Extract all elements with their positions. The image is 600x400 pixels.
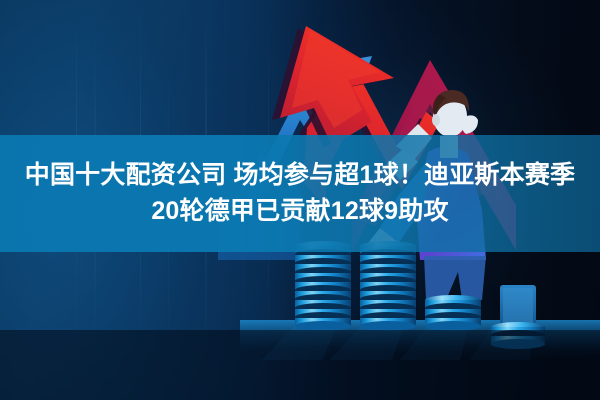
headline-line-2: 20轮德甲已贡献12球9助攻	[151, 194, 448, 230]
coin-stack-2	[360, 241, 416, 331]
coin-stack-3	[425, 295, 481, 331]
bottom-shadow	[0, 330, 600, 400]
coin-stack-1	[295, 241, 351, 331]
banner-image: 中国十大配资公司 场均参与超1球！迪亚斯本赛季 20轮德甲已贡献12球9助攻	[0, 0, 600, 400]
headline-banner: 中国十大配资公司 场均参与超1球！迪亚斯本赛季 20轮德甲已贡献12球9助攻	[0, 135, 600, 252]
headline-line-1: 中国十大配资公司 场均参与超1球！迪亚斯本赛季	[25, 158, 575, 194]
